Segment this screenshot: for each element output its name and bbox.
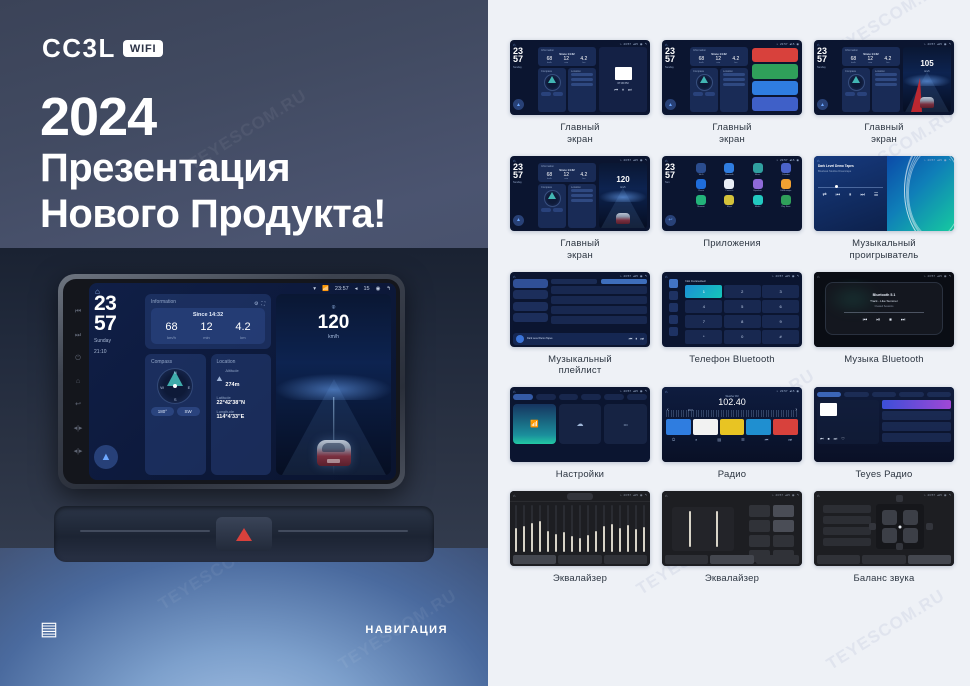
balance-row: [823, 505, 871, 513]
thumbnail-bluetooth-phone[interactable]: ⌂ ⌁23:57◂15◉↰ Not Connected: [662, 272, 802, 347]
tab-country[interactable]: [844, 392, 868, 397]
thumbnail-radio[interactable]: ⌂ ⌁23:57◂15◉ Weather FM 102.40 ‹ › FM 1: [662, 387, 802, 462]
prev-icon[interactable]: ⏮: [75, 308, 81, 315]
clock-minutes: 57: [665, 55, 687, 63]
prev-icon[interactable]: ⏮: [820, 436, 824, 441]
compass-dial: [544, 190, 561, 207]
tab-all[interactable]: [551, 279, 597, 284]
app-label: Play Store: [781, 206, 790, 208]
location-card: Location: [872, 68, 900, 112]
prev-icon[interactable]: ⏮: [863, 317, 868, 323]
clock-minutes: 57: [513, 55, 535, 63]
track-row[interactable]: [551, 306, 647, 314]
next-icon[interactable]: ⏭: [628, 87, 632, 92]
tab-apps[interactable]: [581, 394, 601, 400]
app-icon[interactable]: [753, 195, 763, 205]
speed-unit: km/h: [328, 334, 339, 340]
volume-icon: ◂: [355, 286, 358, 292]
navigation-arrow-icon[interactable]: ▲: [94, 445, 118, 469]
next-icon[interactable]: ⏭: [640, 336, 644, 341]
eq-band[interactable]: [547, 505, 549, 552]
gallery-item[interactable]: ⌂ ⌁23:57◂15◉↰ Bluetooth 5.1 Track - Like…: [814, 272, 954, 378]
media-controls[interactable]: ⏮ ⏯ ⏹ ⏭: [863, 317, 906, 323]
app-shortcut-column[interactable]: [751, 47, 799, 112]
preset-button[interactable]: [749, 520, 770, 532]
key-8[interactable]: 8: [724, 315, 761, 329]
back-icon[interactable]: ↩: [665, 215, 676, 226]
location-card[interactable]: Location ⛰ Altitude 274m: [211, 354, 272, 475]
key-1[interactable]: 1: [685, 285, 722, 299]
tab-sound-field[interactable]: [862, 555, 905, 564]
app-label: Wi-Fi: [699, 174, 704, 176]
key-4[interactable]: 4: [685, 300, 722, 314]
prev-icon[interactable]: ⏮: [836, 192, 841, 198]
key-0[interactable]: 0: [724, 330, 761, 344]
caption-line1: Главный: [712, 122, 751, 133]
balance-value-list: [823, 505, 871, 546]
navigation-arrow-icon[interactable]: ▲: [665, 99, 676, 110]
tab-eq[interactable]: [817, 555, 860, 564]
slider-treble[interactable]: [716, 511, 718, 547]
music-artist: Bluebeat Studios Dreamtape: [818, 170, 883, 173]
app-icon[interactable]: [752, 48, 798, 62]
app-icon[interactable]: [753, 163, 763, 173]
app-item[interactable]: Calendar: [773, 163, 799, 176]
now-playing-bar[interactable]: Dark Level Demo Tapes ⏮ ⏸ ⏭: [513, 333, 647, 345]
thumbnail-caption: Музыкальный плейлист: [548, 354, 612, 378]
app-icon[interactable]: [724, 179, 734, 189]
eq-band[interactable]: [619, 505, 621, 552]
since-label: Since 14:32: [154, 312, 262, 318]
navigation-arrow-icon[interactable]: ▲: [513, 99, 524, 110]
gallery-item[interactable]: ⌂ ⌁23:57◂15◉↰ 23 57 Sunday ▲: [510, 156, 650, 262]
play-pause-icon[interactable]: ⏯: [876, 317, 880, 323]
equalizer-tabs[interactable]: [665, 555, 799, 564]
gallery-item[interactable]: ⌂ ⌁23:57◂15◉↰ 23 57 Sunday ▲: [510, 40, 650, 146]
gallery-item[interactable]: ⏮ ⏹ ⏭ ♡: [814, 387, 954, 481]
sidebar-item-favorites[interactable]: [513, 302, 548, 311]
compass-heading: [541, 92, 551, 96]
tab-sound-field[interactable]: [710, 555, 753, 564]
progress-bar[interactable]: [818, 187, 883, 188]
eq-band[interactable]: [563, 505, 565, 552]
eq-band[interactable]: [595, 505, 597, 552]
key-3[interactable]: 3: [762, 285, 799, 299]
gallery-item[interactable]: Dark Level Demo Tapes Bluebeat Studios D…: [814, 156, 954, 262]
slider-bass[interactable]: [689, 511, 691, 547]
volume-up-icon[interactable]: ◂|▸: [74, 448, 83, 455]
tab-sound-field[interactable]: [558, 555, 601, 564]
caption-line2: экран: [719, 134, 745, 145]
app-icon[interactable]: [752, 64, 798, 78]
preset-tile[interactable]: [693, 419, 718, 435]
caption-line2: экран: [871, 134, 897, 145]
thumbnail-apps[interactable]: ⌂ ⌁23:57◂15◉ 23 57 Sun ↩ Wi-Fi: [662, 156, 802, 231]
vent-line: [80, 530, 210, 532]
key-5[interactable]: 5: [724, 300, 761, 314]
gallery-item[interactable]: ⌂ ⌁23:57◂15◉ Weather FM 102.40 ‹ › FM 1: [662, 387, 802, 481]
preset-buttons[interactable]: [749, 505, 794, 562]
preset-tile[interactable]: [746, 419, 771, 435]
tab-eq[interactable]: [665, 555, 708, 564]
eq-band[interactable]: [571, 505, 573, 552]
arrow-down-icon[interactable]: [896, 543, 903, 550]
information-card: Information Since 14:32 68km/h 12min 4.2…: [842, 47, 900, 66]
setting-card-wifi[interactable]: 📶: [513, 404, 556, 444]
app-label: Bluetooth: [725, 174, 733, 176]
next-icon[interactable]: ⏭: [834, 436, 838, 441]
home-icon[interactable]: ⌂: [76, 378, 80, 385]
stat-unit: km/h: [165, 335, 177, 340]
power-icon[interactable]: ⏻: [75, 355, 81, 362]
list-icon[interactable]: ☰: [741, 437, 745, 442]
prev-station-icon[interactable]: ‹: [667, 407, 669, 413]
app-label: Browser: [697, 206, 704, 208]
app-label: Calendar: [782, 174, 790, 176]
stop-icon[interactable]: ⏹: [889, 317, 892, 323]
head-unit-screen[interactable]: ⌂ ▾ 📶 23:57 ◂ 15 ◉ ↰: [89, 283, 396, 480]
next-icon[interactable]: ⏭: [788, 437, 792, 442]
location-row: [571, 194, 593, 197]
gallery-item[interactable]: ⌂ ⌁23:57◂15◉↰: [510, 272, 650, 378]
equalizer-sliders[interactable]: [515, 505, 645, 552]
wifi-badge: WIFI: [123, 40, 163, 57]
media-controls[interactable]: ⏮ ⏹ ⏭ ♡: [820, 436, 876, 441]
station-row[interactable]: [882, 400, 951, 409]
clock-day: Sunday: [94, 338, 140, 346]
sidebar-item-artists[interactable]: [513, 290, 548, 299]
tab-balance[interactable]: [604, 555, 647, 564]
speed-value: 105: [920, 59, 933, 68]
eq-band[interactable]: [643, 505, 645, 552]
frequency-scale[interactable]: [666, 410, 798, 417]
app-item[interactable]: FileManager: [773, 179, 799, 192]
information-card[interactable]: Information ⚙ ⛶ Since 14:32: [145, 294, 271, 349]
next-icon[interactable]: ⏭: [860, 192, 865, 198]
pause-icon[interactable]: ⏸: [849, 192, 852, 198]
sidebar-item-tracks[interactable]: [513, 279, 548, 288]
status-bar: ⌁23:57◂15◉↰: [772, 274, 799, 278]
preset-button[interactable]: [749, 505, 770, 517]
thumbnail-caption: Настройки: [556, 469, 604, 481]
thumbnail-caption: Главный экран: [560, 238, 599, 262]
equalizer-tabs[interactable]: [513, 555, 647, 564]
tab-popular[interactable]: [899, 392, 923, 397]
thumbnail-home-speed-red[interactable]: ⌂ ⌁23:57◂15◉↰ 23 57 Sunday ▲: [814, 40, 954, 115]
eq-band[interactable]: [531, 505, 533, 552]
track-row[interactable]: [551, 296, 647, 304]
tab-system[interactable]: [627, 394, 647, 400]
app-icon[interactable]: [724, 163, 734, 173]
location-row: [571, 199, 593, 202]
tab-balance[interactable]: [908, 555, 951, 564]
preset-button[interactable]: [773, 535, 794, 547]
eq-band[interactable]: [603, 505, 605, 552]
gallery-item[interactable]: ⌂ ⌁23:57◂15◉ 23 57 Sun ↩ Wi-Fi: [662, 156, 802, 262]
compass-cone-icon: [700, 76, 708, 83]
app-item[interactable]: Media: [745, 195, 771, 208]
tab-wlan[interactable]: [513, 394, 533, 400]
prev-icon[interactable]: ⏮: [614, 87, 618, 92]
compass-title: Compass: [541, 186, 563, 189]
back-arrow-icon[interactable]: ↰: [386, 286, 391, 292]
eq-band[interactable]: [515, 505, 517, 552]
compass-card[interactable]: Compass N E S W: [145, 354, 206, 475]
progress-bar[interactable]: [844, 312, 925, 313]
app-item[interactable]: Wi-Fi: [688, 163, 714, 176]
setting-card-more[interactable]: •••: [604, 404, 647, 444]
app-icon[interactable]: [696, 195, 706, 205]
gallery-item[interactable]: ⌂ ⌁23:57◂15◉↰ 📶: [510, 387, 650, 481]
app-icon[interactable]: [781, 163, 791, 173]
gallery-item[interactable]: ⌂ ⌁23:57◂15◉↰ 23 57 Sunday ▲: [814, 40, 954, 146]
shuffle-icon[interactable]: ⇄: [822, 192, 826, 198]
home-icon: ⌂: [817, 274, 819, 279]
dialpad-icon[interactable]: [669, 279, 678, 288]
caption-line1: Эквалайзер: [553, 573, 607, 584]
thumbnail-equalizer[interactable]: ⌂ ⌁23:57◂15◉↰: [510, 491, 650, 566]
dialed-number: Not Connected: [685, 279, 799, 283]
compass-dial: [544, 74, 561, 91]
next-icon[interactable]: ⏭: [901, 317, 906, 323]
gallery-item[interactable]: ⌂ ⌁23:57◂15◉↰: [814, 491, 954, 585]
app-icon[interactable]: [753, 179, 763, 189]
app-item[interactable]: Bluetooth: [716, 163, 742, 176]
thumbnail-playlist[interactable]: ⌂ ⌁23:57◂15◉↰: [510, 272, 650, 347]
app-icon[interactable]: [724, 195, 734, 205]
compass-mark-s: S: [174, 397, 177, 402]
arrow-up-icon[interactable]: [896, 495, 903, 502]
caption-line1: Главный: [560, 238, 599, 249]
speed-unit: km/h: [924, 70, 929, 73]
media-controls[interactable]: ⏮⏸⏭: [614, 87, 631, 92]
compass-card: Compass: [538, 68, 566, 112]
contacts-icon[interactable]: [669, 291, 678, 300]
stop-icon[interactable]: ⏹: [828, 436, 830, 441]
next-icon[interactable]: ⏭: [75, 332, 81, 339]
status-bar: ⌁23:57◂15◉↰: [620, 389, 647, 393]
tab-sound[interactable]: [536, 394, 556, 400]
tab-all[interactable]: [817, 392, 841, 397]
gallery-item[interactable]: ⌂ ⌁23:57◂15◉↰: [662, 491, 802, 585]
arrow-left-icon[interactable]: [869, 523, 876, 530]
app-item[interactable]: Browser: [688, 195, 714, 208]
left-hero-panel: TEYESCOM.RU TEYESCOM.RU TEYESCOM.RU TEYE…: [0, 0, 488, 686]
location-row: [571, 73, 593, 76]
tab-eq[interactable]: [513, 555, 556, 564]
car-model: [920, 97, 934, 108]
preset-tiles[interactable]: [662, 417, 802, 435]
media-controls[interactable]: ⇄ ⏮ ⏸ ⏭ ☰: [818, 192, 883, 198]
app-item[interactable]: Phone: [688, 179, 714, 192]
compass-mark-w: W: [160, 385, 164, 390]
thumbnail-sound-balance[interactable]: ⌂ ⌁23:57◂15◉↰: [814, 491, 954, 566]
prev-icon[interactable]: ⏮: [629, 336, 633, 341]
home-icon: ⌂: [513, 493, 515, 498]
preset-button[interactable]: [773, 505, 794, 517]
clock-day: Sunday: [513, 66, 535, 69]
app-item[interactable]: Maps: [716, 195, 742, 208]
status-volume: 15: [363, 286, 369, 292]
gallery-item[interactable]: ⌂ ⌁23:57◂15◉↰ Not Connected: [662, 272, 802, 378]
preset-tile[interactable]: [720, 419, 745, 435]
expand-icon[interactable]: ⛶: [261, 301, 265, 307]
tab-balance[interactable]: [756, 555, 799, 564]
clock-day: Sunday: [665, 66, 687, 69]
speed-unit: km/h: [620, 186, 625, 189]
settings-tabs[interactable]: [513, 394, 647, 400]
call-log-icon[interactable]: [669, 315, 678, 324]
thumbnail-home-media[interactable]: ⌂ ⌁23:57◂15◉↰ 23 57 Sunday ▲: [510, 40, 650, 115]
app-item[interactable]: Music: [745, 163, 771, 176]
thumbnail-equalizer-2[interactable]: ⌂ ⌁23:57◂15◉↰: [662, 491, 802, 566]
app-item[interactable]: Equalizer: [745, 179, 771, 192]
app-icon[interactable]: [696, 163, 706, 173]
caption-line2: проигрыватель: [850, 250, 919, 261]
sidebar-item-albums[interactable]: [513, 313, 548, 322]
dialpad[interactable]: 1 2 3 4 5 6 7 8 9 * 0 #: [685, 285, 799, 344]
thumbnail-caption: Главный экран: [560, 122, 599, 146]
teyes-radio-tabs[interactable]: [817, 392, 951, 397]
thumbnail-settings[interactable]: ⌂ ⌁23:57◂15◉↰ 📶: [510, 387, 650, 462]
gallery-item[interactable]: ⌂ ⌁23:57◂15◉ 23 57 Sunday ▲: [662, 40, 802, 146]
app-label: Music: [755, 174, 760, 176]
caption-line1: Радио: [718, 469, 746, 480]
phone-sidebar[interactable]: [665, 279, 682, 344]
app-item[interactable]: Play Store: [773, 195, 799, 208]
tab-general[interactable]: [604, 394, 624, 400]
station-row[interactable]: [882, 411, 951, 420]
compass-card: Compass: [842, 68, 870, 112]
station-row[interactable]: [882, 422, 951, 431]
key-7[interactable]: 7: [685, 315, 722, 329]
eq-band[interactable]: [587, 505, 589, 552]
app-label: FileManager: [780, 190, 791, 192]
navigation-arrow-icon[interactable]: ▲: [513, 215, 524, 226]
band-icon[interactable]: ⏻: [672, 437, 675, 442]
compass-mark-e: E: [188, 385, 191, 390]
home-icon: ⌂: [665, 493, 667, 498]
app-icon[interactable]: [696, 179, 706, 189]
more-icon: •••: [624, 422, 628, 427]
caption-line1: Эквалайзер: [705, 573, 759, 584]
app-item[interactable]: Contacts: [716, 179, 742, 192]
balance-center-dot[interactable]: [899, 525, 902, 528]
volume-down-icon[interactable]: ◂|▸: [74, 425, 83, 432]
app-icon[interactable]: [752, 81, 798, 95]
home-icon: ⌂: [817, 493, 819, 498]
eq-band[interactable]: [611, 505, 613, 552]
radio-toolbar[interactable]: ⏻ ⌕ ▤ ☰ ⏮ ⏭: [662, 435, 802, 442]
stat-unit: km: [732, 62, 739, 64]
key-hash[interactable]: #: [762, 330, 799, 344]
gear-icon[interactable]: ⚙: [254, 301, 258, 307]
compass-direction: SW: [177, 407, 200, 416]
track-row[interactable]: [551, 286, 647, 294]
speed-road-panel: 105 km/h: [903, 47, 951, 112]
physical-button-strip[interactable]: ⏮ ⏭ ⏻ ⌂ ↩ ◂|▸ ◂|▸: [67, 283, 89, 480]
thumbnail-bluetooth-music[interactable]: ⌂ ⌁23:57◂15◉↰ Bluetooth 5.1 Track - Like…: [814, 272, 954, 347]
camera-icon[interactable]: ◉: [376, 286, 381, 292]
preset-tile[interactable]: [666, 419, 691, 435]
thumbnail-teyes-radio[interactable]: ⏮ ⏹ ⏭ ♡: [814, 387, 954, 462]
sound-field-sliders[interactable]: [672, 507, 734, 551]
key-6[interactable]: 6: [762, 300, 799, 314]
preset-selector[interactable]: [567, 493, 593, 500]
wifi-icon: ▾: [313, 286, 316, 292]
gallery-item[interactable]: ⌂ ⌁23:57◂15◉↰: [510, 491, 650, 585]
tab-favorites[interactable]: [927, 392, 951, 397]
app-icon[interactable]: [781, 195, 791, 205]
equalizer-tabs[interactable]: [817, 555, 951, 564]
preset-button[interactable]: [773, 520, 794, 532]
location-row: [723, 73, 745, 76]
pause-icon[interactable]: ⏸: [635, 336, 637, 341]
location-title: Location: [217, 359, 266, 365]
tab-genre[interactable]: [872, 392, 896, 397]
app-icon[interactable]: [781, 179, 791, 189]
eq-icon[interactable]: ▤: [717, 437, 721, 442]
station-row[interactable]: [882, 433, 951, 442]
playlist-tabs[interactable]: [551, 279, 647, 284]
status-bar: ⌁23:57◂15◉↰: [620, 493, 647, 497]
next-station-icon[interactable]: ›: [795, 407, 797, 413]
hazard-button[interactable]: [216, 517, 272, 551]
clock-minutes: 57: [817, 55, 839, 63]
car-model: [616, 213, 630, 224]
app-icon[interactable]: [752, 97, 798, 111]
thumbnail-music-player[interactable]: Dark Level Demo Tapes Bluebeat Studios D…: [814, 156, 954, 231]
preset-button[interactable]: [749, 535, 770, 547]
speed-road-panel[interactable]: ⌾ 120 km/h: [276, 294, 391, 475]
settings-icon[interactable]: [669, 327, 678, 336]
tab-folder[interactable]: [601, 279, 647, 284]
navigation-arrow-icon[interactable]: ▲: [817, 99, 828, 110]
caption-line1: Настройки: [556, 469, 604, 480]
eq-band[interactable]: [627, 505, 629, 552]
key-2[interactable]: 2: [724, 285, 761, 299]
eq-band[interactable]: [579, 505, 581, 552]
key-star[interactable]: *: [685, 330, 722, 344]
search-icon[interactable]: [669, 303, 678, 312]
thumbnail-home-apps[interactable]: ⌂ ⌁23:57◂15◉ 23 57 Sunday ▲: [662, 40, 802, 115]
back-icon[interactable]: ↩: [75, 401, 81, 408]
track-row[interactable]: [551, 316, 647, 324]
station-list[interactable]: [882, 400, 951, 444]
eq-band[interactable]: [555, 505, 557, 552]
search-icon[interactable]: ⌕: [695, 437, 697, 442]
eq-band[interactable]: [635, 505, 637, 552]
key-9[interactable]: 9: [762, 315, 799, 329]
prev-icon[interactable]: ⏮: [765, 437, 769, 442]
thumbnail-caption: Teyes Радио: [855, 469, 912, 481]
apps-grid[interactable]: Wi-Fi Bluetooth Music Calendar Phone Con…: [688, 163, 799, 228]
arrow-right-icon[interactable]: [926, 523, 933, 530]
preset-tile[interactable]: [773, 419, 798, 435]
list-icon[interactable]: ☰: [874, 192, 878, 198]
thumbnail-caption: Музыкальный проигрыватель: [850, 238, 919, 262]
hotspot-icon: ☁: [577, 420, 584, 428]
setting-card-hotspot[interactable]: ☁: [559, 404, 602, 444]
latitude-value: 22°42'38"N: [217, 400, 266, 406]
tab-display[interactable]: [559, 394, 579, 400]
location-row: [571, 83, 593, 86]
thumbnail-home-speed[interactable]: ⌂ ⌁23:57◂15◉↰ 23 57 Sunday ▲: [510, 156, 650, 231]
eq-band[interactable]: [523, 505, 525, 552]
eq-band[interactable]: [539, 505, 541, 552]
play-icon[interactable]: ⏸: [622, 87, 624, 92]
favorite-icon[interactable]: ♡: [841, 436, 845, 441]
